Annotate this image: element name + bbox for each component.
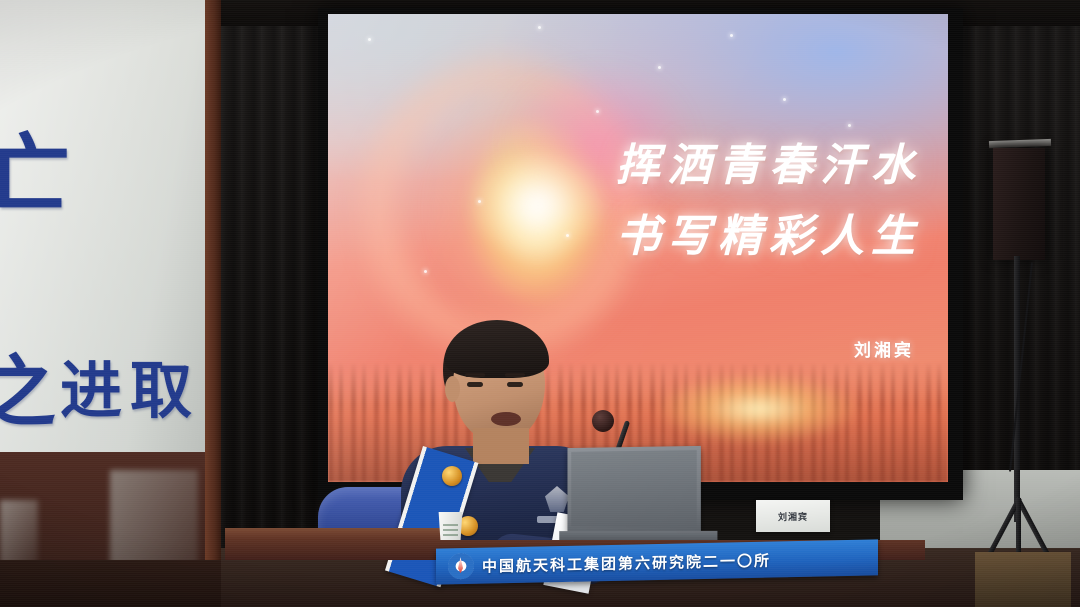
wall-column-edge <box>205 0 221 607</box>
floor-box <box>975 552 1071 607</box>
name-placard-text: 刘湘宾 <box>778 510 808 523</box>
microphone-head-icon <box>592 410 614 432</box>
star-speck <box>368 38 371 41</box>
floor-left <box>0 560 221 607</box>
presenter-ear <box>445 376 460 402</box>
star-speck <box>658 66 661 69</box>
curtain-left <box>221 0 331 607</box>
slide-title-line-1: 挥洒青春汗水 <box>592 130 922 201</box>
presenter-eye-right <box>507 382 523 387</box>
star-speck <box>478 200 481 203</box>
star-speck <box>566 234 569 237</box>
star-speck <box>538 26 541 29</box>
sash-medal <box>442 466 462 486</box>
presenter-mouth <box>491 412 521 426</box>
star-speck <box>424 270 427 273</box>
star-speck <box>596 110 599 113</box>
presenter-neck <box>473 428 529 464</box>
paper-cup-print <box>443 524 458 538</box>
star-speck <box>783 98 786 101</box>
wall-sign-main: 进取 <box>60 340 200 430</box>
wall-sign-partial-top: 亡 <box>0 104 72 229</box>
casic-emblem-icon <box>448 553 474 580</box>
presenter-hair <box>445 320 549 378</box>
wall-sign-partial-mid: 之 <box>0 330 58 442</box>
slide-title: 挥洒青春汗水 书写精彩人生 <box>592 130 922 273</box>
laptop-display <box>571 450 697 528</box>
presenter-brow-left <box>465 373 485 377</box>
laptop-screen <box>567 446 700 534</box>
presenter-eye-left <box>467 382 483 387</box>
star-speck <box>848 124 851 127</box>
pa-speaker <box>993 148 1045 260</box>
organization-banner-text: 中国航天科工集团第六研究院二一〇所 <box>482 549 771 576</box>
name-placard: 刘湘宾 <box>756 500 830 532</box>
presentation-scene: 亡 之 进取 挥洒青春汗水 书写精彩人生 刘湘宾 <box>0 0 1080 607</box>
slide-title-line-2: 书写精彩人生 <box>592 201 922 272</box>
presenter-brow-right <box>505 373 525 377</box>
horizon-sun-glow <box>628 364 888 454</box>
star-speck <box>730 34 733 37</box>
slide-author: 刘湘宾 <box>854 336 914 361</box>
